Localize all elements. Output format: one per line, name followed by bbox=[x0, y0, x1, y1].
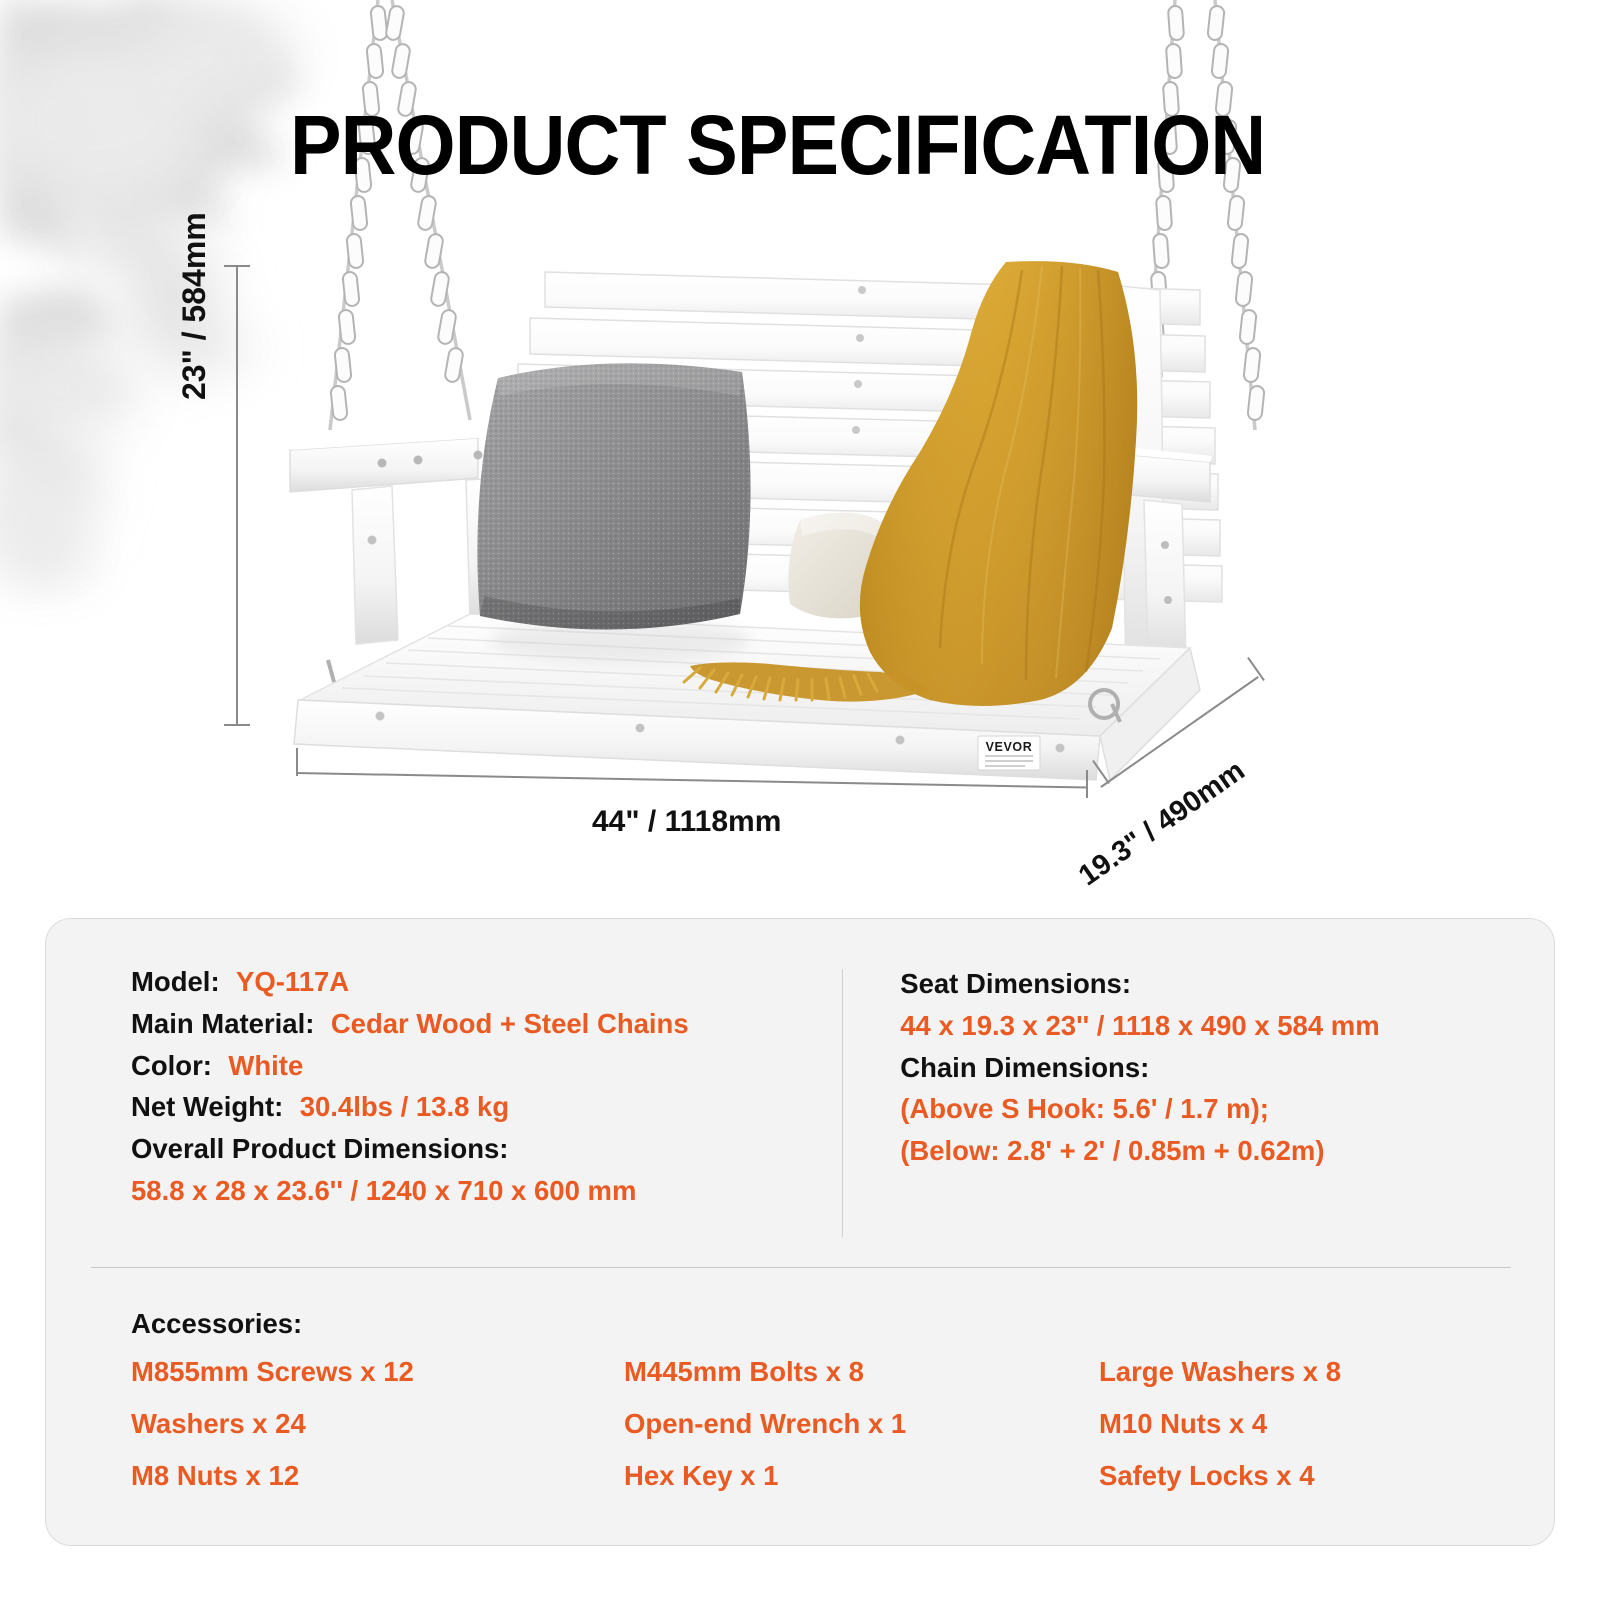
accessory-item: M855mm Screws x 12 bbox=[131, 1356, 624, 1388]
accessory-item: Open-end Wrench x 1 bbox=[624, 1408, 1099, 1440]
accessory-item: Washers x 24 bbox=[131, 1408, 624, 1440]
spec-row-color: Color: White bbox=[131, 1045, 845, 1087]
spec-row-model: Model: YQ-117A bbox=[131, 961, 845, 1003]
svg-text:VEVOR: VEVOR bbox=[986, 740, 1033, 754]
spec-value-overall-dimensions: 58.8 x 28 x 23.6'' / 1240 x 710 x 600 mm bbox=[131, 1170, 845, 1212]
accessory-item: M8 Nuts x 12 bbox=[131, 1460, 624, 1492]
spec-label-overall-dimensions: Overall Product Dimensions: bbox=[131, 1128, 845, 1170]
accessories-section: Accessories: M855mm Screws x 12 M445mm B… bbox=[46, 1268, 1554, 1492]
accessory-item: M445mm Bolts x 8 bbox=[624, 1356, 1099, 1388]
height-tick-bottom bbox=[224, 724, 250, 726]
chain-strand-right-front bbox=[1207, 0, 1264, 430]
spec-value-color: White bbox=[228, 1050, 303, 1081]
vevor-brand-tag: VEVOR bbox=[978, 736, 1040, 770]
chain-strand-left-front bbox=[385, 0, 470, 420]
accessory-item: Safety Locks x 4 bbox=[1099, 1460, 1554, 1492]
page-title: PRODUCT SPECIFICATION bbox=[290, 97, 1265, 194]
spec-label-weight: Net Weight: bbox=[131, 1091, 283, 1122]
spec-value-material: Cedar Wood + Steel Chains bbox=[331, 1008, 689, 1039]
spec-left-column: Model: YQ-117A Main Material: Cedar Wood… bbox=[46, 919, 845, 1267]
chain-strand-left-rear bbox=[330, 0, 388, 430]
spec-label-color: Color: bbox=[131, 1050, 212, 1081]
spec-label-chain-dimensions: Chain Dimensions: bbox=[900, 1047, 1554, 1089]
accessories-grid: M855mm Screws x 12 M445mm Bolts x 8 Larg… bbox=[131, 1356, 1554, 1492]
accessories-title: Accessories: bbox=[131, 1308, 1554, 1340]
grey-throw-pillow bbox=[477, 363, 750, 662]
accessory-item: Large Washers x 8 bbox=[1099, 1356, 1554, 1388]
panel-top-section: Model: YQ-117A Main Material: Cedar Wood… bbox=[46, 919, 1554, 1267]
height-dimension-line bbox=[236, 266, 238, 726]
specification-panel: Model: YQ-117A Main Material: Cedar Wood… bbox=[45, 918, 1555, 1546]
spec-value-weight: 30.4lbs / 13.8 kg bbox=[300, 1091, 509, 1122]
spec-label-material: Main Material: bbox=[131, 1008, 314, 1039]
height-dimension-label: 23" / 584mm bbox=[176, 212, 213, 400]
accessory-item: Hex Key x 1 bbox=[624, 1460, 1099, 1492]
spec-value-chain-below: (Below: 2.8' + 2' / 0.85m + 0.62m) bbox=[900, 1130, 1554, 1172]
accessory-item: M10 Nuts x 4 bbox=[1099, 1408, 1554, 1440]
spec-value-chain-above: (Above S Hook: 5.6' / 1.7 m); bbox=[900, 1088, 1554, 1130]
width-dimension-label: 44" / 1118mm bbox=[592, 805, 781, 839]
spec-row-material: Main Material: Cedar Wood + Steel Chains bbox=[131, 1003, 845, 1045]
width-tick-right bbox=[1086, 770, 1088, 798]
column-divider bbox=[842, 969, 843, 1237]
s-hook-left bbox=[328, 660, 334, 682]
spec-label-model: Model: bbox=[131, 966, 220, 997]
spec-value-seat-dimensions: 44 x 19.3 x 23'' / 1118 x 490 x 584 mm bbox=[900, 1005, 1554, 1047]
spec-row-weight: Net Weight: 30.4lbs / 13.8 kg bbox=[131, 1086, 845, 1128]
height-tick-top bbox=[224, 265, 250, 267]
spec-label-seat-dimensions: Seat Dimensions: bbox=[900, 963, 1554, 1005]
spec-right-column: Seat Dimensions: 44 x 19.3 x 23'' / 1118… bbox=[845, 919, 1554, 1267]
spec-value-model: YQ-117A bbox=[236, 966, 349, 997]
swing-armrest-left bbox=[290, 432, 504, 644]
